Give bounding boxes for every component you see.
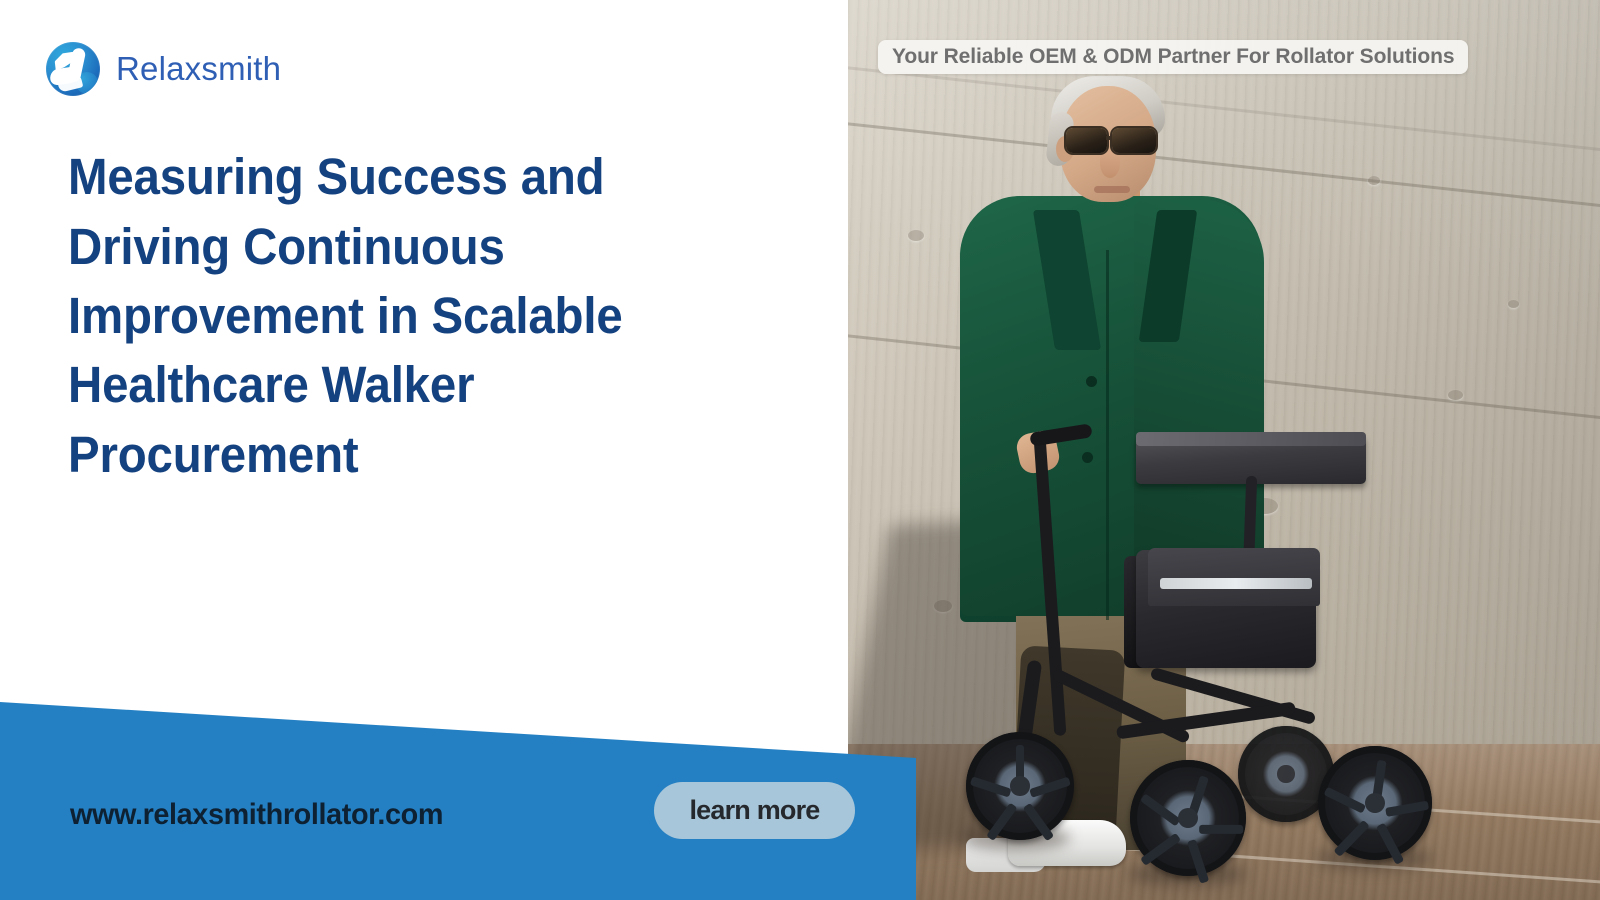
poster-canvas: Relaxsmith Measuring Success and Driving… bbox=[0, 0, 1600, 900]
wheel-hub bbox=[1178, 808, 1199, 829]
wheel-hub bbox=[1010, 776, 1029, 795]
rollator-handle-post bbox=[1034, 436, 1067, 736]
relaxsmith-logo-icon bbox=[46, 42, 100, 96]
tagline-text: Your Reliable OEM & ODM Partner For Roll… bbox=[892, 45, 1454, 69]
rollator-wheel bbox=[966, 732, 1074, 840]
learn-more-label: learn more bbox=[689, 795, 819, 826]
wheel-spoke bbox=[1140, 793, 1181, 826]
wheel-spoke bbox=[1324, 786, 1367, 813]
rollator-bag-reflective-strip bbox=[1160, 578, 1312, 589]
wheel-hub bbox=[1365, 793, 1386, 814]
rollator-wheel bbox=[1130, 760, 1246, 876]
page-title: Measuring Success and Driving Continuous… bbox=[68, 142, 719, 489]
wheel-spoke bbox=[1334, 819, 1371, 856]
wheel-spoke bbox=[1029, 777, 1071, 798]
website-url[interactable]: www.relaxsmithrollator.com bbox=[70, 798, 443, 832]
wheel-spoke bbox=[986, 803, 1017, 841]
wheel-spoke bbox=[1140, 832, 1181, 865]
rollator-bag-flap bbox=[1148, 548, 1320, 606]
rollator-handle-grip bbox=[1029, 423, 1092, 447]
wheel-spoke bbox=[1023, 803, 1054, 841]
brand-wordmark: Relaxsmith bbox=[116, 50, 281, 88]
wheel-spoke bbox=[1199, 825, 1243, 834]
wheel-spoke bbox=[969, 777, 1011, 798]
rollator-seat-top bbox=[1136, 432, 1366, 446]
hero-photo bbox=[848, 0, 1600, 900]
brand-lockup[interactable]: Relaxsmith bbox=[46, 42, 281, 96]
learn-more-button[interactable]: learn more bbox=[654, 782, 855, 839]
tagline-badge: Your Reliable OEM & ODM Partner For Roll… bbox=[878, 40, 1468, 74]
rollator-walker bbox=[848, 0, 1600, 900]
wheel-spoke bbox=[1385, 800, 1429, 816]
rollator-wheel bbox=[1318, 746, 1432, 860]
wheel-hub bbox=[1277, 765, 1294, 782]
